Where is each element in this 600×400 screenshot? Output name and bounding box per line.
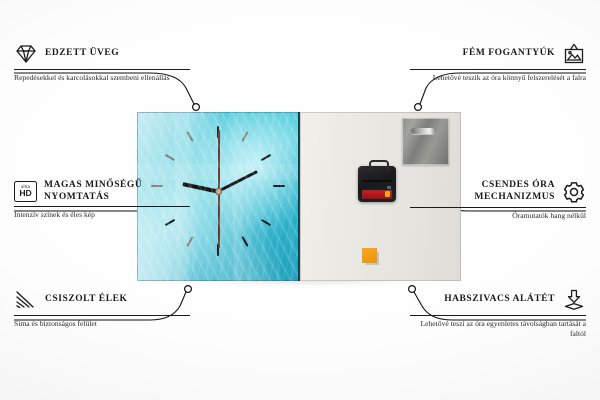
feature-title: CSENDES ÓRA MECHANIZMUS (410, 180, 555, 203)
feature-title: HABSZIVACS ALÁTÉT (444, 294, 555, 306)
infographic-canvas: EDZETT ÜVEG Repedésekkel és karcolásokka… (0, 0, 600, 400)
feature-subtitle: Lehetővé teszi az óra egyenletes távolsá… (410, 319, 586, 339)
gear-icon (562, 180, 586, 204)
feature-subtitle: Repedésekkel és karcolásokkal szembeni e… (14, 73, 190, 83)
divider (14, 315, 190, 316)
feature-metal-handles[interactable]: FÉM FOGANTYÚK Lehetővé teszik az óra kön… (410, 42, 586, 83)
mechanism-slot (362, 180, 392, 182)
foam-pad (362, 248, 377, 263)
picture-hanger-icon (562, 42, 586, 66)
feature-silent-mechanism[interactable]: CSENDES ÓRA MECHANIZMUS Óramutatók hang … (410, 180, 586, 221)
clock-hub (215, 188, 222, 195)
foam-pad-arrow-icon (562, 288, 586, 312)
feature-subtitle: Sima és biztonságos felület (14, 319, 190, 329)
hanger-loop (369, 160, 389, 171)
ultra-hd-icon: ultra HD (14, 181, 37, 202)
feature-title: EDZETT ÜVEG (45, 48, 119, 60)
feature-title: MAGAS MINŐSÉGŰ NYOMTATÁS (44, 180, 190, 203)
clock-minute-hand (217, 170, 258, 193)
feature-high-quality-print[interactable]: ultra HD MAGAS MINŐSÉGŰ NYOMTATÁS Intenz… (14, 180, 190, 220)
feature-tempered-glass[interactable]: EDZETT ÜVEG Repedésekkel és karcolásokka… (14, 42, 190, 83)
battery (362, 190, 392, 199)
divider (410, 315, 586, 316)
diamond-icon (14, 42, 38, 66)
clock-mechanism (358, 166, 396, 202)
divider (410, 207, 586, 208)
polished-edges-icon (14, 288, 38, 312)
metal-hanger-icon (402, 118, 449, 165)
mechanism-label (387, 186, 391, 189)
feature-subtitle: Intenzív színek és éles kép (14, 210, 190, 220)
feature-subtitle: Lehetővé teszik az óra könnyű felszerelé… (410, 73, 586, 83)
divider (410, 69, 586, 70)
feature-subtitle: Óramutatók hang nélkül (410, 211, 586, 221)
feature-title: FÉM FOGANTYÚK (463, 48, 555, 60)
feature-title: CSISZOLT ÉLEK (45, 294, 127, 306)
feature-foam-pad[interactable]: HABSZIVACS ALÁTÉT Lehetővé teszi az óra … (410, 288, 586, 339)
divider (14, 206, 190, 207)
clock-second-hand (218, 130, 220, 248)
divider (14, 69, 190, 70)
ultra-hd-large-text: HD (19, 189, 31, 198)
feature-polished-edges[interactable]: CSISZOLT ÉLEK Sima és biztonságos felüle… (14, 288, 190, 329)
